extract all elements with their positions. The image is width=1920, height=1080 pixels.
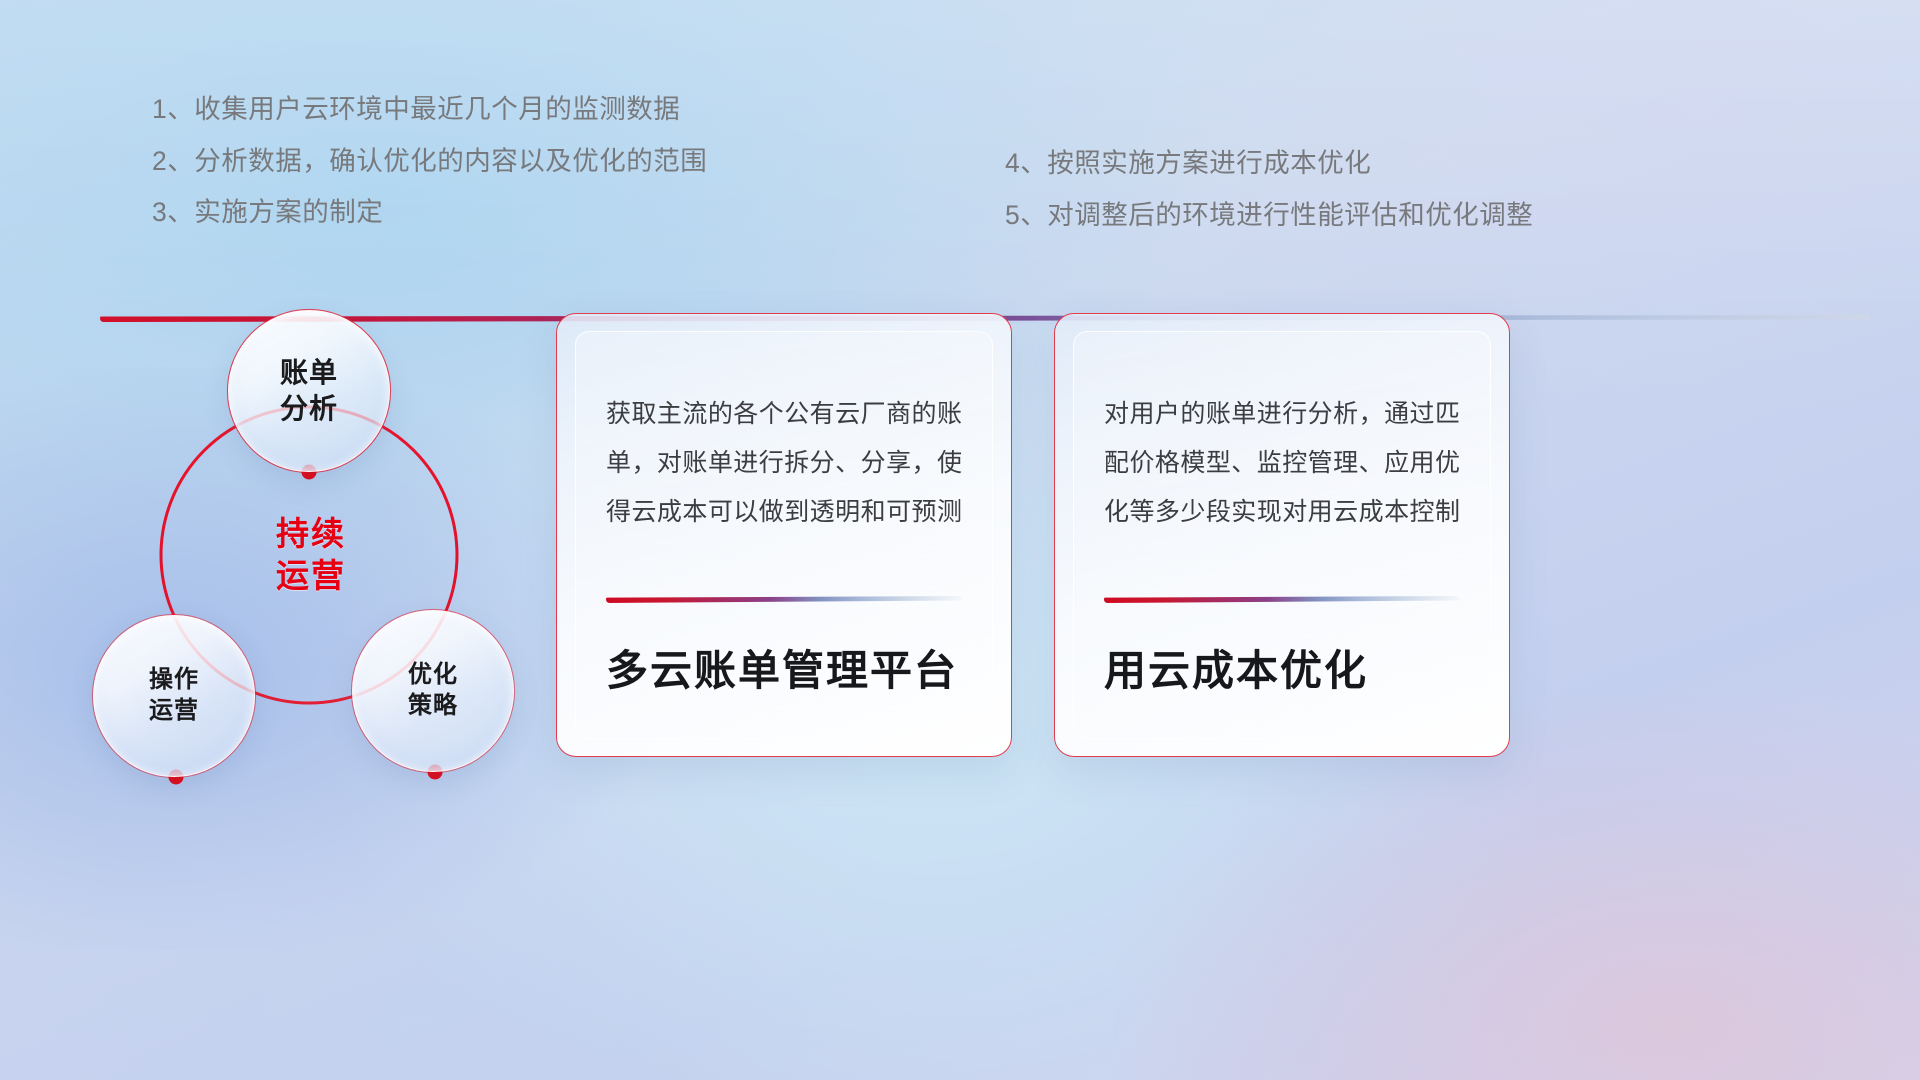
venn-node-label-line1: 账单 [280,357,338,388]
venn-node-label-line2: 分析 [280,393,338,424]
list-item: 3、实施方案的制定 [152,199,707,226]
venn-node-optimization-strategy[interactable]: 优化 策略 [352,610,514,772]
list-item: 4、按照实施方案进行成本优化 [1005,150,1533,177]
feature-card-title: 用云成本优化 [1104,603,1460,738]
venn-node-label-line2: 策略 [408,692,458,719]
feature-card-body: 对用户的账单进行分析，通过匹配价格模型、监控管理、应用优化等多少段实现对用云成本… [1104,390,1460,536]
venn-node-label-line2: 运营 [149,697,199,724]
feature-cards: 获取主流的各个公有云厂商的账单，对账单进行拆分、分享，使得云成本可以做到透明和可… [556,313,1510,757]
venn-node-label: 账单 分析 [280,355,338,427]
feature-card-divider [1104,596,1460,603]
feature-card-cost-optimization[interactable]: 对用户的账单进行分析，通过匹配价格模型、监控管理、应用优化等多少段实现对用云成本… [1054,313,1510,757]
feature-card-title: 多云账单管理平台 [606,603,962,738]
venn-node-label-line1: 优化 [408,661,458,688]
venn-center-line1: 持续 [276,515,346,552]
feature-card-multicloud-billing[interactable]: 获取主流的各个公有云厂商的账单，对账单进行拆分、分享，使得云成本可以做到透明和可… [556,313,1012,757]
feature-card-body: 获取主流的各个公有云厂商的账单，对账单进行拆分、分享，使得云成本可以做到透明和可… [606,390,962,536]
venn-center-text: 持续 运营 [276,513,346,596]
list-item: 1、收集用户云环境中最近几个月的监测数据 [152,96,707,123]
steps-left-column: 1、收集用户云环境中最近几个月的监测数据 2、分析数据，确认优化的内容以及优化的… [152,96,707,251]
venn-node-label: 优化 策略 [408,660,458,721]
feature-card-inner: 对用户的账单进行分析，通过匹配价格模型、监控管理、应用优化等多少段实现对用云成本… [1073,331,1491,739]
feature-card-divider [606,596,962,603]
venn-center-line2: 运营 [276,557,346,594]
venn-node-label: 操作 运营 [149,665,199,726]
venn-center-label: 持续 运营 [246,490,376,620]
venn-node-billing-analysis[interactable]: 账单 分析 [228,310,390,472]
steps-right-column: 4、按照实施方案进行成本优化 5、对调整后的环境进行性能评估和优化调整 [1005,150,1533,253]
list-item: 2、分析数据，确认优化的内容以及优化的范围 [152,148,707,175]
venn-node-label-line1: 操作 [149,666,199,693]
venn-diagram: 账单 分析 操作 运营 优化 策略 持续 运营 [90,330,560,930]
venn-node-operations[interactable]: 操作 运营 [93,615,255,777]
feature-card-inner: 获取主流的各个公有云厂商的账单，对账单进行拆分、分享，使得云成本可以做到透明和可… [575,331,993,739]
list-item: 5、对调整后的环境进行性能评估和优化调整 [1005,202,1533,229]
